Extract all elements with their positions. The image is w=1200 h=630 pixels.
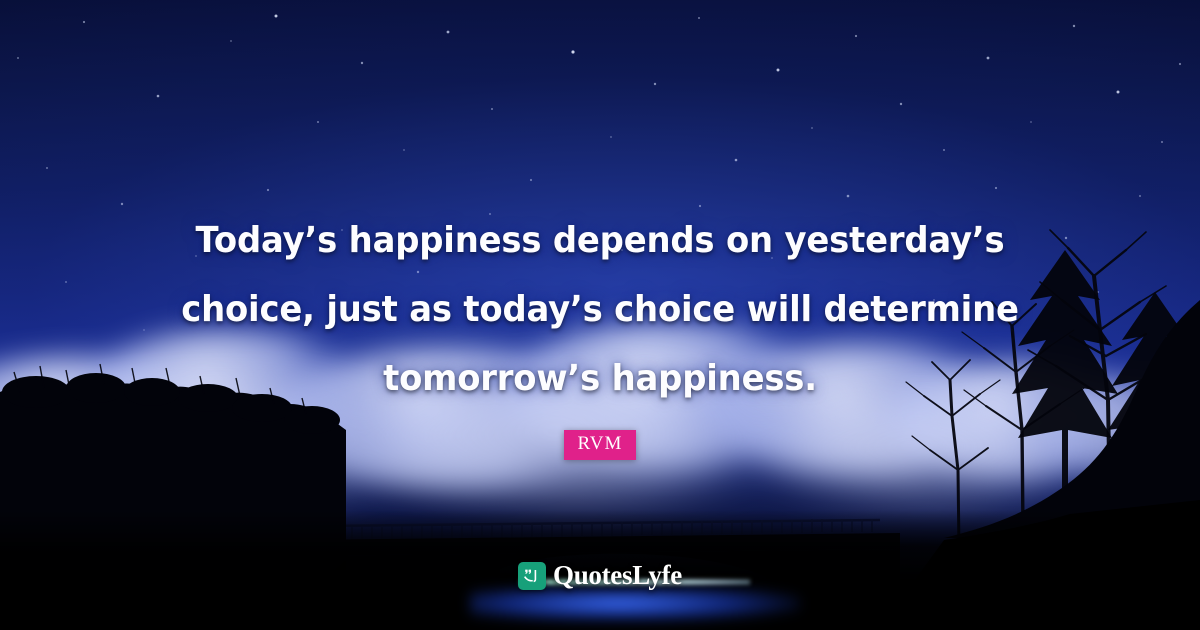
quote-smiley-icon <box>518 562 546 590</box>
brand-watermark[interactable]: QuotesLyfe <box>0 560 1200 591</box>
brand-name: QuotesLyfe <box>553 560 682 591</box>
author-attribution: RVM <box>0 430 1200 460</box>
quote-card: Today’s happiness depends on yesterday’s… <box>0 0 1200 630</box>
author-badge[interactable]: RVM <box>564 430 635 460</box>
quote-text: Today’s happiness depends on yesterday’s… <box>0 206 1200 413</box>
quote-line-3: tomorrow’s happiness. <box>149 344 1051 413</box>
quote-line-2: choice, just as today’s choice will dete… <box>149 275 1051 344</box>
water-reflection-glow <box>470 588 800 622</box>
quote-line-1: Today’s happiness depends on yesterday’s <box>149 206 1051 275</box>
